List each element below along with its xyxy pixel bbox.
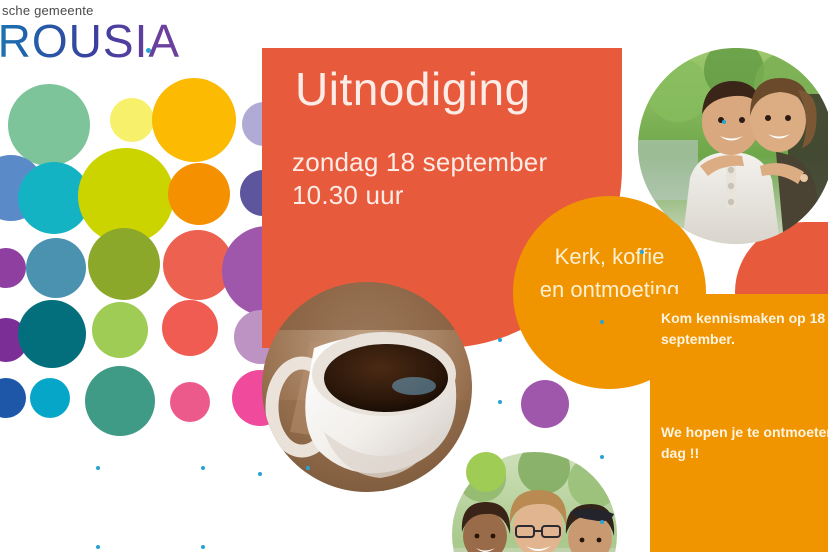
logo-dot-icon: [146, 48, 151, 53]
micro-dot-pattern: [0, 0, 828, 552]
micro-dot: [600, 455, 604, 459]
micro-dot: [600, 520, 604, 524]
micro-dot: [640, 250, 644, 254]
micro-dot: [498, 400, 502, 404]
micro-dot: [201, 545, 205, 549]
micro-dot: [96, 545, 100, 549]
micro-dot: [722, 120, 726, 124]
logo-wordmark: AROUSIA: [0, 16, 180, 66]
poster-canvas: Uitnodiging zondag 18 september 10.30 uu…: [0, 0, 828, 552]
micro-dot: [600, 320, 604, 324]
brand-logo[interactable]: sche gemeente AROUSIA: [0, 4, 180, 66]
micro-dot: [258, 472, 262, 476]
micro-dot: [96, 466, 100, 470]
micro-dot: [201, 466, 205, 470]
micro-dot: [498, 338, 502, 342]
micro-dot: [306, 466, 310, 470]
